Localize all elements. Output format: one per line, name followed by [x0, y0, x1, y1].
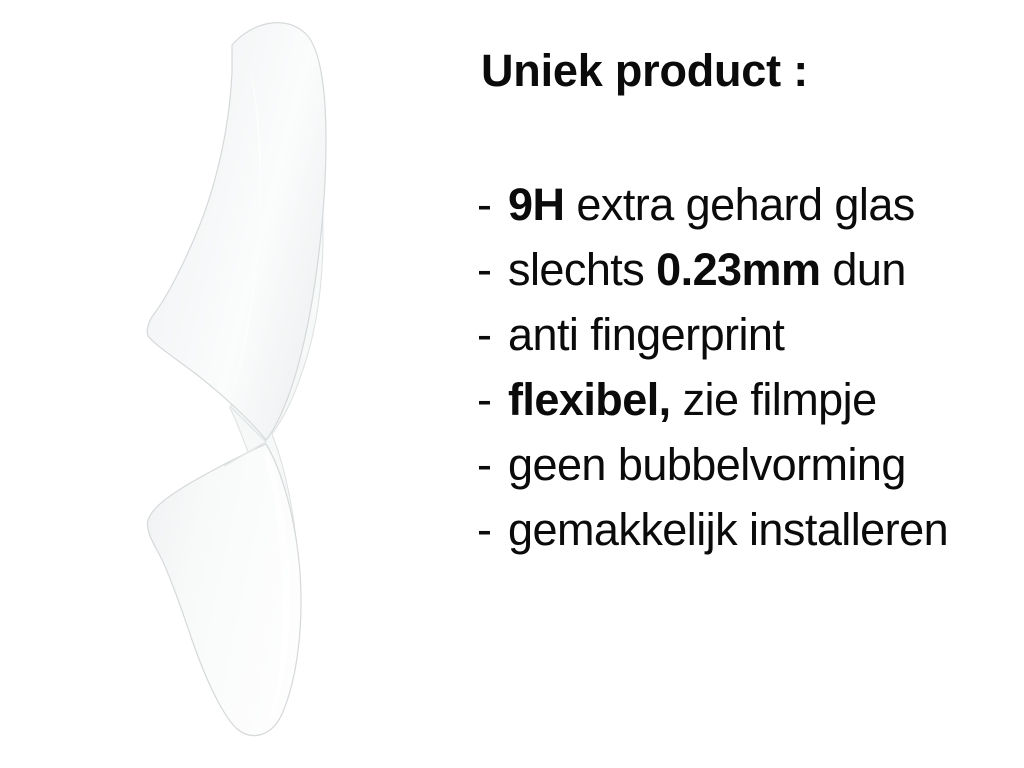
bullet-marker: - [477, 313, 491, 357]
feature-item: -anti fingerprint [470, 313, 1024, 378]
feature-item: -9H extra gehard glas [470, 183, 1024, 248]
feature-label: geen bubbelvorming [508, 443, 906, 487]
feature-label: flexibel, zie filmpje [508, 378, 877, 422]
feature-text: extra gehard glas [564, 179, 914, 230]
feature-emphasis: 9H [508, 179, 564, 230]
feature-text: zie filmpje [671, 374, 877, 425]
bullet-marker: - [477, 183, 491, 227]
bullet-marker: - [477, 508, 491, 552]
product-feature-slide: Uniek product : -9H extra gehard glas-sl… [0, 0, 1024, 768]
copy-block: Uniek product : -9H extra gehard glas-sl… [470, 0, 1024, 768]
feature-text: gemakkelijk installeren [508, 504, 948, 555]
feature-label: gemakkelijk installeren [508, 508, 948, 552]
feature-emphasis: flexibel, [508, 374, 671, 425]
tempered-glass-sheet-icon [0, 0, 460, 768]
product-image [0, 0, 460, 768]
page-title: Uniek product : [481, 48, 808, 93]
feature-text: anti fingerprint [508, 309, 784, 360]
feature-text: slechts [508, 244, 656, 295]
bullet-marker: - [477, 378, 491, 422]
feature-label: anti fingerprint [508, 313, 784, 357]
bullet-marker: - [477, 443, 491, 487]
feature-item: -gemakkelijk installeren [470, 508, 1024, 573]
feature-emphasis: 0.23mm [656, 244, 820, 295]
feature-item: -slechts 0.23mm dun [470, 248, 1024, 313]
feature-item: -flexibel, zie filmpje [470, 378, 1024, 443]
feature-label: slechts 0.23mm dun [508, 248, 906, 292]
feature-item: -geen bubbelvorming [470, 443, 1024, 508]
feature-list: -9H extra gehard glas-slechts 0.23mm dun… [470, 183, 1024, 573]
feature-label: 9H extra gehard glas [508, 183, 915, 227]
feature-text: geen bubbelvorming [508, 439, 906, 490]
bullet-marker: - [477, 248, 491, 292]
feature-text: dun [820, 244, 905, 295]
